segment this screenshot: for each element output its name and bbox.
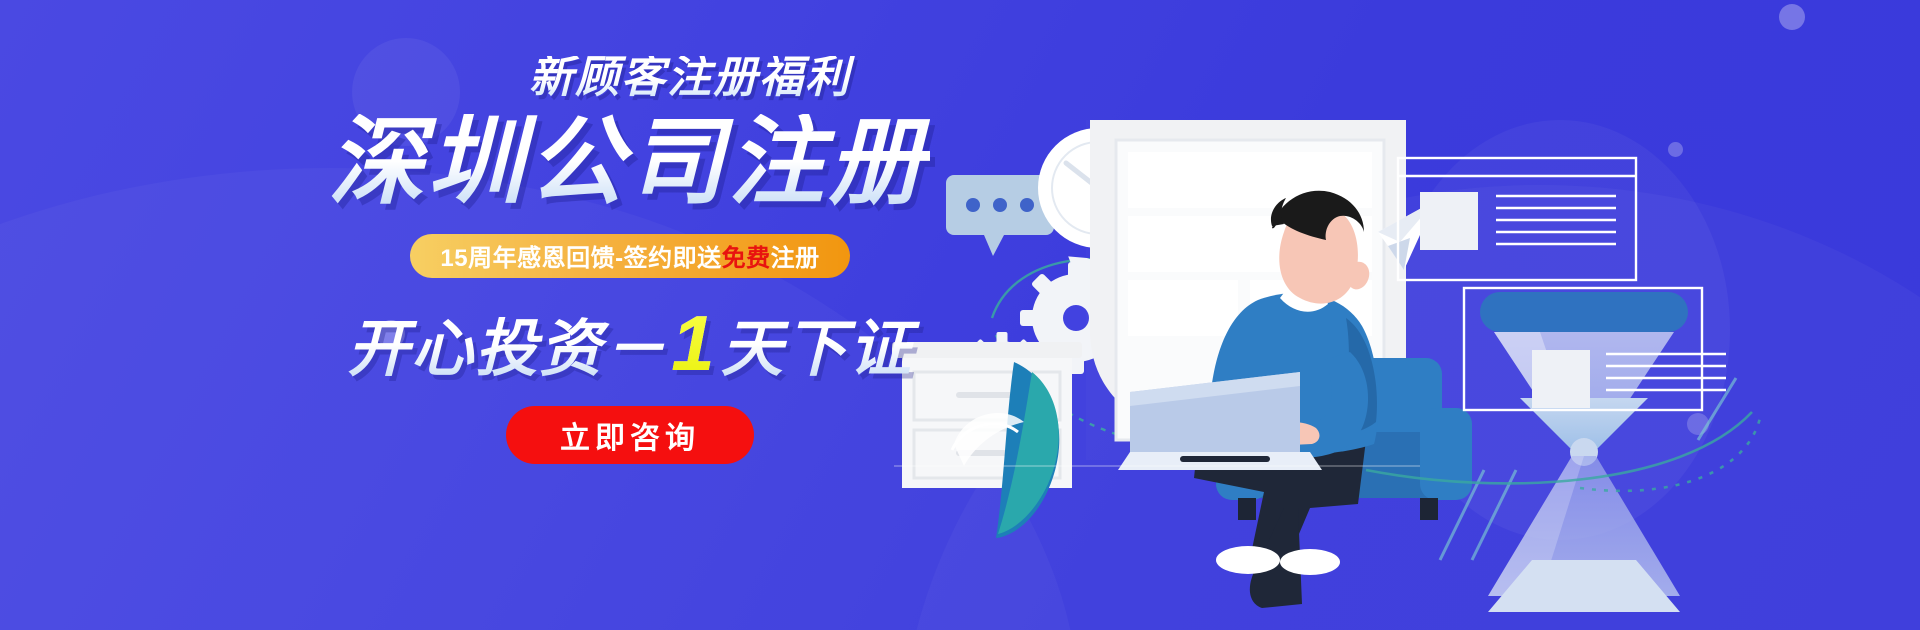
hero-illustration (880, 0, 1920, 630)
banner-copy: 新顾客注册福利 深圳公司注册 15周年感恩回馈-签约即送免费注册 开心投资－1天… (330, 56, 930, 464)
promo-highlight: 免费 (722, 238, 771, 273)
promo-banner: 新顾客注册福利 深圳公司注册 15周年感恩回馈-签约即送免费注册 开心投资－1天… (0, 0, 1920, 630)
sub-headline: 开心投资－1天下证 (330, 304, 930, 382)
page-title: 深圳公司注册 (326, 114, 930, 212)
promo-badge: 15周年感恩回馈-签约即送免费注册 (410, 234, 849, 278)
document-card-top (1398, 158, 1636, 280)
eyebrow-text: 新顾客注册福利 (450, 56, 930, 100)
subline-text-after: 天下证 (721, 315, 913, 384)
consult-now-button[interactable]: 立即咨询 (506, 406, 754, 464)
subline-number: 1 (667, 299, 720, 387)
promo-text-before: 15周年感恩回馈-签约即送 (440, 238, 721, 273)
promo-text-after: 注册 (771, 238, 820, 273)
chat-bubble-icon (946, 175, 1054, 256)
subline-text-before: 开心投资－ (347, 315, 667, 384)
